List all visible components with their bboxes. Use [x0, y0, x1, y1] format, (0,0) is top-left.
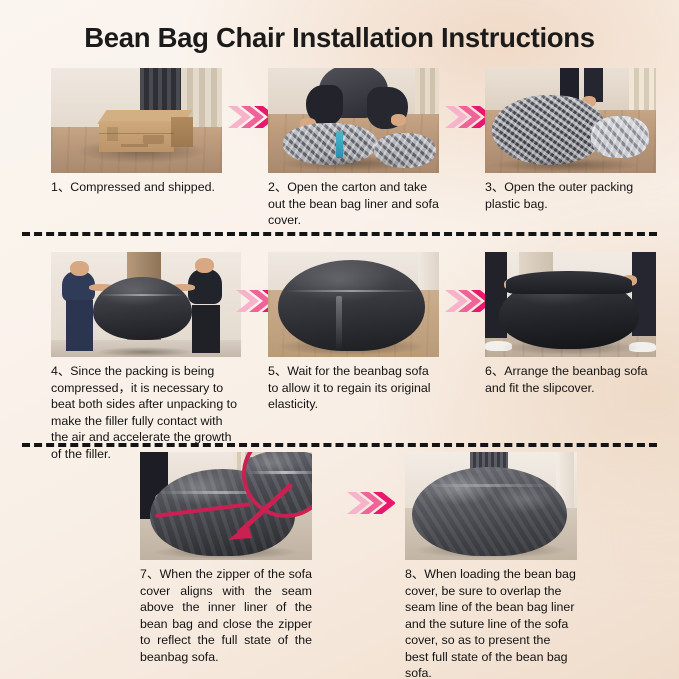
infographic-page: Bean Bag Chair Installation Instructions — [0, 0, 679, 679]
chevron-arrow-icon — [345, 488, 395, 518]
step-card-4: 4、Since the packing is being compressed，… — [51, 252, 241, 462]
photo-step-7-zipper-alignment — [140, 452, 312, 560]
step-card-6: 6、Arrange the beanbag sofa and fit the s… — [485, 252, 656, 396]
callout-arrow-icon — [224, 482, 294, 544]
section-divider-1 — [22, 232, 657, 236]
caption-step-6: 6、Arrange the beanbag sofa and fit the s… — [485, 363, 656, 396]
step-card-8: 8、When loading the bean bag cover, be su… — [405, 452, 577, 679]
caption-step-7: 7、When the zipper of the sofa cover alig… — [140, 566, 312, 665]
step-card-1: 1、Compressed and shipped. — [51, 68, 222, 196]
step-card-2: 2、Open the carton and take out the bean … — [268, 68, 439, 229]
step-card-5: 5、Wait for the beanbag sofa to allow it … — [268, 252, 439, 413]
caption-step-8: 8、When loading the bean bag cover, be su… — [405, 566, 577, 679]
caption-step-3: 3、Open the outer packing plastic bag. — [485, 179, 656, 212]
page-title: Bean Bag Chair Installation Instructions — [0, 22, 679, 54]
photo-step-3-outer-plastic-bag — [485, 68, 656, 173]
arrow-step-7-to-8 — [345, 488, 395, 518]
step-card-7: 7、When the zipper of the sofa cover alig… — [140, 452, 312, 665]
photo-step-6-fitting-slipcover — [485, 252, 656, 357]
caption-step-4: 4、Since the packing is being compressed，… — [51, 363, 241, 462]
photo-step-2-opening-carton — [268, 68, 439, 173]
photo-step-4-two-people-beating-bag — [51, 252, 241, 357]
photo-step-5-bag-regaining-shape — [268, 252, 439, 357]
step-card-3: 3、Open the outer packing plastic bag. — [485, 68, 656, 212]
caption-step-1: 1、Compressed and shipped. — [51, 179, 222, 196]
photo-step-8-finished-bean-bag-chair — [405, 452, 577, 560]
caption-step-5: 5、Wait for the beanbag sofa to allow it … — [268, 363, 439, 413]
photo-step-1-carton-on-floor — [51, 68, 222, 173]
caption-step-2: 2、Open the carton and take out the bean … — [268, 179, 439, 229]
